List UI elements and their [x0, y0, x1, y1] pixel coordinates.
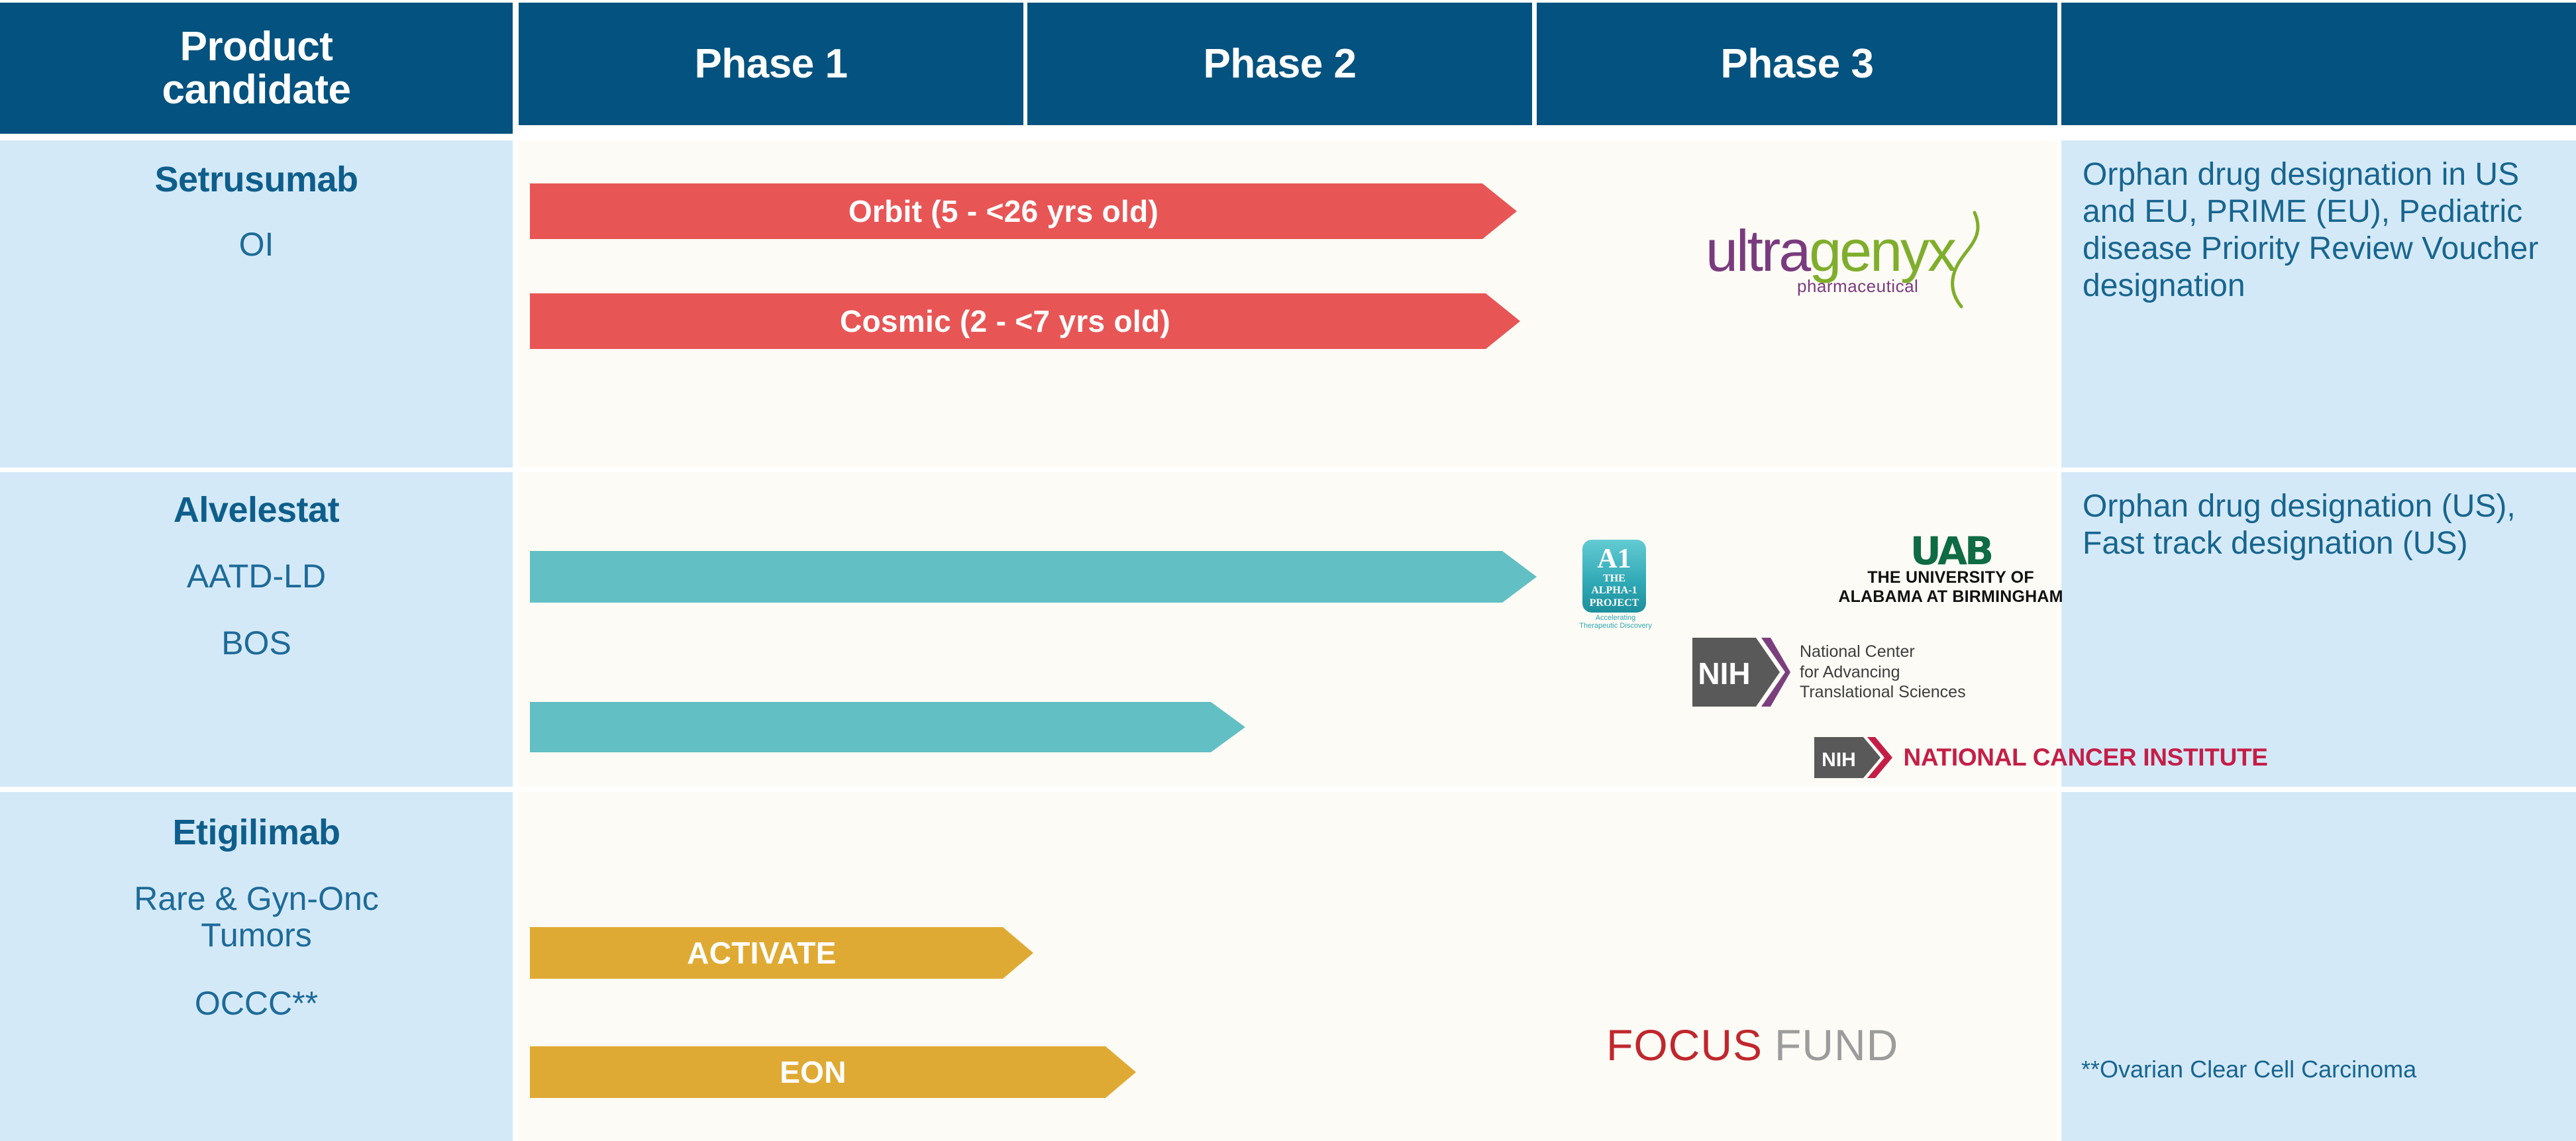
indication-alvelestat-aatd-ld: AATD-LD	[187, 558, 326, 595]
partner-logo-uab: UAB THE UNIVERSITY OF ALABAMA AT BIRMING…	[1812, 534, 2090, 607]
nci-nih-badge-icon: NIH	[1814, 737, 1892, 778]
uab-line1: THE UNIVERSITY OF	[1812, 568, 2090, 587]
column-header-phase-3-label: Phase 3	[1721, 42, 1874, 85]
partner-logo-ultragenyx: ultragenyx pharmaceutical	[1706, 222, 1990, 321]
partner-logo-ncats: NIH National Center for Advancing Transl…	[1692, 636, 2004, 709]
ncats-line1: National Center	[1800, 642, 1966, 662]
trial-bar-bos[interactable]	[530, 702, 1245, 752]
alpha1-line3: PROJECT	[1590, 597, 1639, 609]
column-header-product-candidate-line1: Product	[162, 25, 351, 68]
row-etigilimab-label-cell: Etigilimab Rare & Gyn-Onc Tumors OCCC**	[0, 792, 513, 1141]
trial-bar-orbit[interactable]: Orbit (5 - <26 yrs old)	[530, 183, 1517, 239]
trial-bar-activate-label: ACTIVATE	[687, 935, 837, 971]
footnote-occc: **Ovarian Clear Cell Carcinoma	[2081, 1056, 2565, 1083]
column-header-phase-2-label: Phase 2	[1204, 42, 1357, 85]
column-header-phase-1-label: Phase 1	[695, 42, 848, 85]
partner-logo-focus-fund: FOCUSFUND	[1606, 1020, 1951, 1079]
designation-notes-setrusumab: Orphan drug designation in US and EU, PR…	[2083, 156, 2559, 305]
row-setrusumab-label-cell: Setrusumab OI	[0, 140, 513, 468]
row-etigilimab-notes-cell: **Ovarian Clear Cell Carcinoma	[2061, 792, 2576, 1141]
trial-bar-cosmic[interactable]: Cosmic (2 - <7 yrs old)	[530, 293, 1520, 349]
partner-logo-alpha-1-project: A1 THE ALPHA-1 PROJECT Accelerating Ther…	[1576, 540, 1655, 629]
svg-text:NIH: NIH	[1698, 656, 1750, 691]
column-header-product-candidate: Product candidate	[0, 3, 513, 134]
trial-bar-orbit-label: Orbit (5 - <26 yrs old)	[849, 193, 1159, 229]
ncats-nih-badge-icon: NIH	[1692, 638, 1790, 707]
designation-notes-alvelestat: Orphan drug designation (US), Fast track…	[2083, 488, 2566, 562]
indication-setrusumab-oi: OI	[239, 226, 274, 263]
product-name-setrusumab: Setrusumab	[154, 159, 358, 200]
trial-bar-cosmic-label: Cosmic (2 - <7 yrs old)	[840, 303, 1170, 339]
indication-alvelestat-bos: BOS	[221, 625, 291, 662]
uab-mark: UAB	[1812, 534, 2090, 568]
ultragenyx-wordmark-genyx: genyx	[1809, 218, 1955, 283]
alpha1-tagline: Accelerating Therapeutic Discovery	[1576, 614, 1655, 630]
trial-bar-eon-label: EON	[780, 1054, 847, 1090]
indication-etigilimab-rare-gyn-onc-line2: Tumors	[201, 917, 312, 954]
partner-logo-national-cancer-institute: NIH NATIONAL CANCER INSTITUTE	[1814, 737, 2318, 778]
alpha1-mark: A1	[1597, 545, 1631, 573]
ncats-line3: Translational Sciences	[1800, 682, 1966, 703]
alpha1-line1: THE	[1603, 573, 1625, 585]
column-header-phase-1: Phase 1	[519, 3, 1023, 125]
nci-name: NATIONAL CANCER INSTITUTE	[1903, 744, 2267, 771]
trial-bar-activate[interactable]: ACTIVATE	[530, 927, 1033, 979]
ncats-line2: for Advancing	[1800, 662, 1966, 683]
alpha1-line2: ALPHA-1	[1591, 585, 1637, 597]
column-header-phase-2: Phase 2	[1027, 3, 1532, 125]
product-name-alvelestat: Alvelestat	[174, 489, 339, 530]
indication-etigilimab-rare-gyn-onc-line1: Rare & Gyn-Onc	[134, 881, 379, 917]
focus-fund-word-focus: FOCUS	[1606, 1020, 1763, 1069]
uab-line2: ALABAMA AT BIRMINGHAM	[1812, 587, 2090, 607]
indication-etigilimab-occc: OCCC**	[195, 985, 318, 1022]
ultragenyx-swoosh-icon	[1939, 210, 1985, 309]
column-header-product-candidate-line2: candidate	[162, 68, 351, 111]
trial-bar-eon[interactable]: EON	[530, 1046, 1136, 1098]
svg-text:NIH: NIH	[1822, 749, 1857, 771]
row-alvelestat-label-cell: Alvelestat AATD-LD BOS	[0, 472, 513, 787]
focus-fund-word-fund: FUND	[1775, 1020, 1898, 1069]
column-header-designations	[2061, 3, 2576, 125]
trial-bar-aatd-ld[interactable]	[530, 551, 1537, 603]
ultragenyx-wordmark-ultra: ultra	[1706, 218, 1809, 283]
pipeline-chart: Product candidate Phase 1 Phase 2 Phase …	[0, 0, 2576, 1141]
product-name-etigilimab: Etigilimab	[172, 812, 340, 853]
column-header-phase-3: Phase 3	[1537, 3, 2057, 125]
row-setrusumab-notes-cell: Orphan drug designation in US and EU, PR…	[2061, 140, 2576, 468]
